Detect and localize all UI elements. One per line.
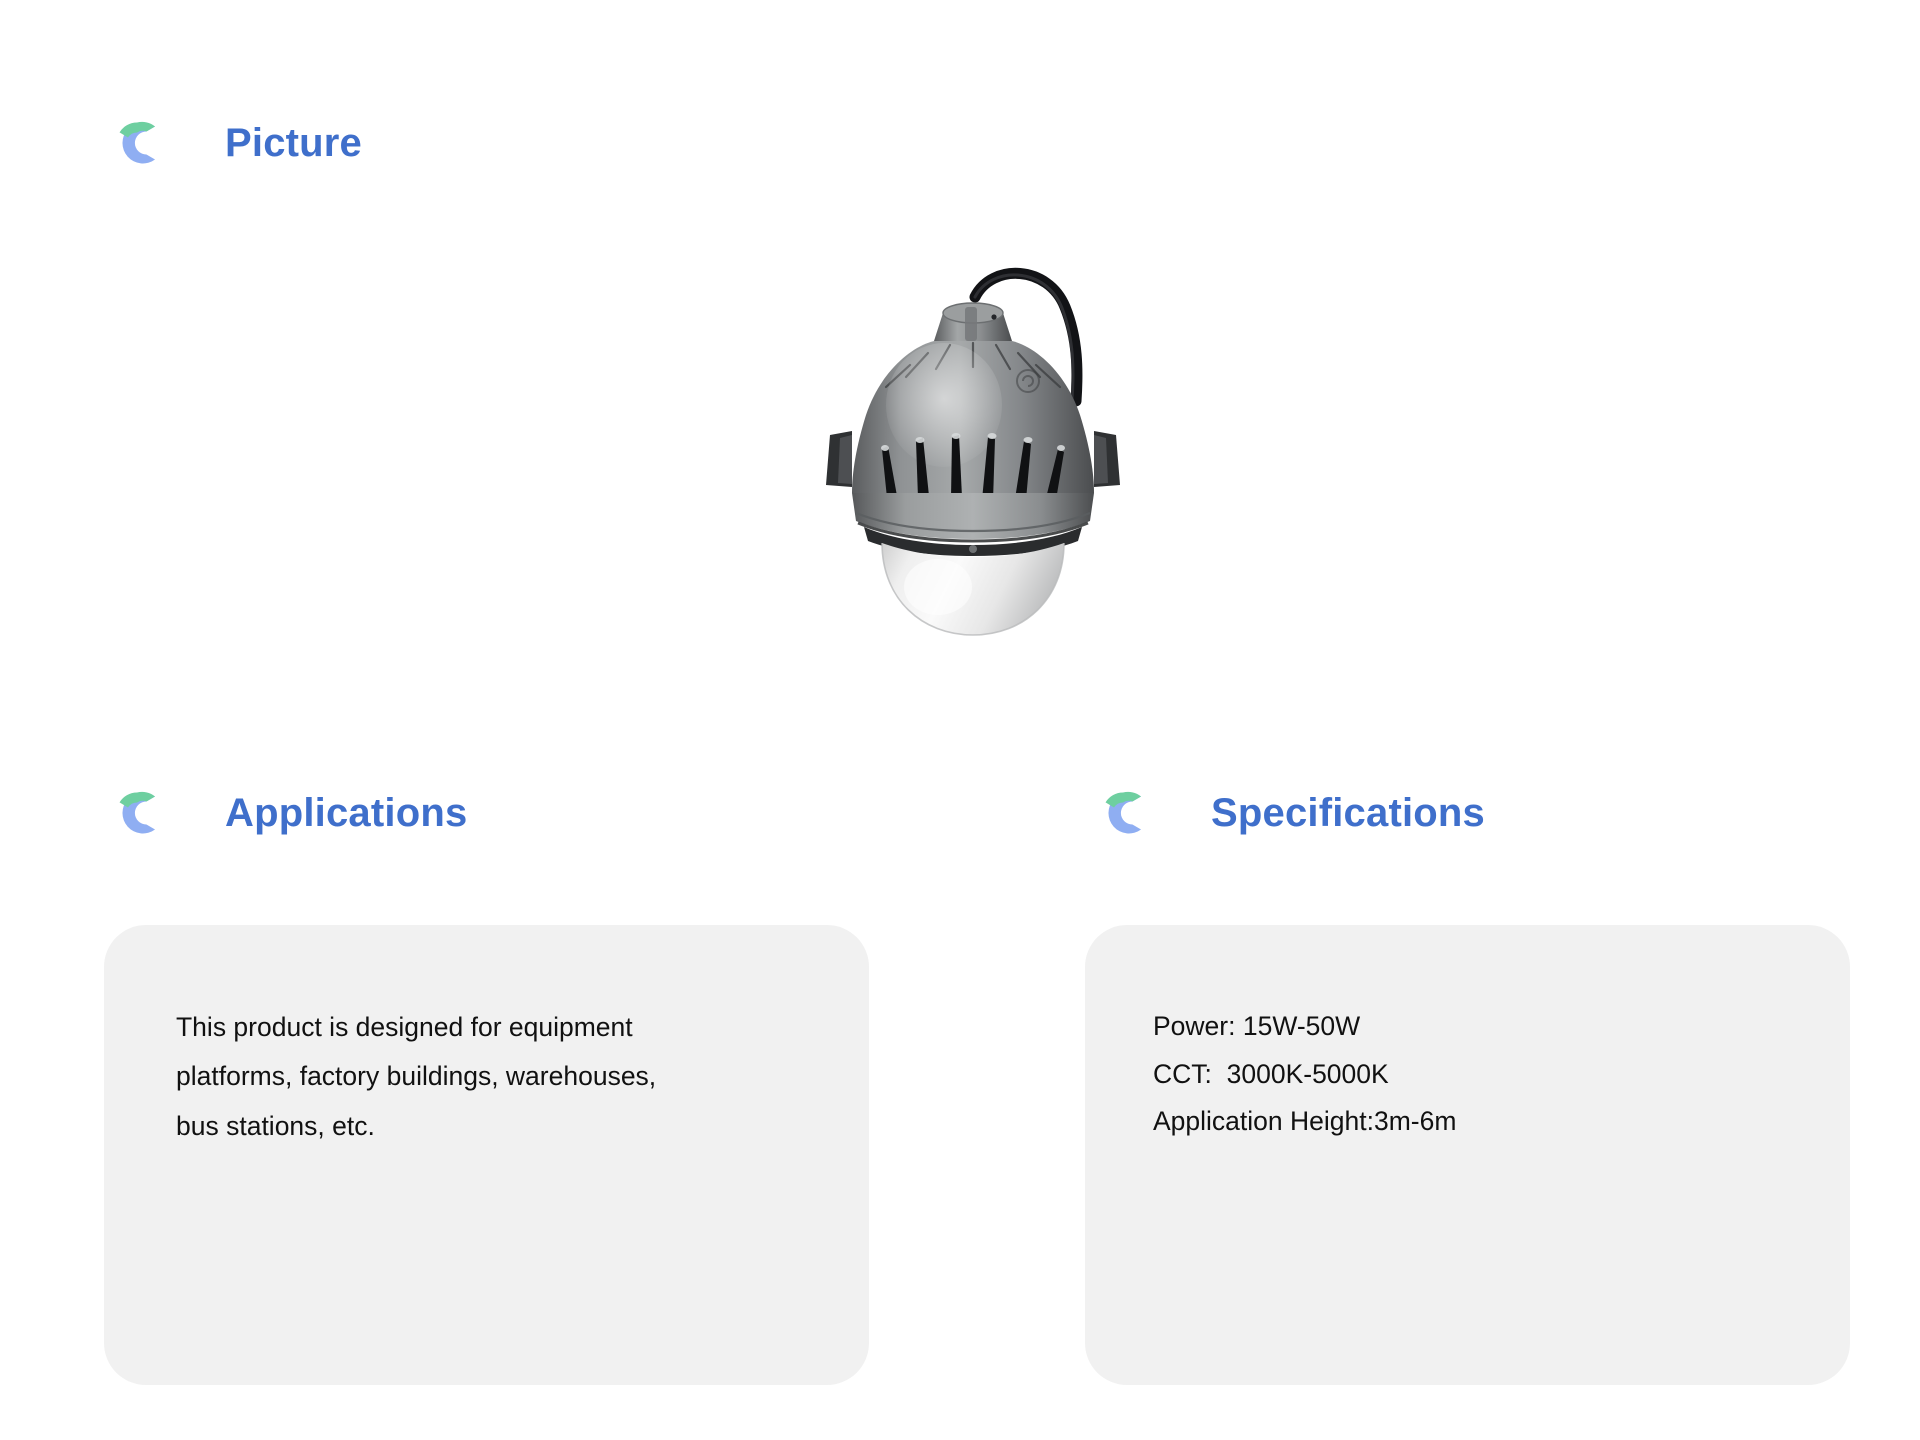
c-ring-logo-icon (104, 110, 170, 176)
section-title-picture: Picture (225, 123, 362, 163)
led-highbay-lamp-photo (760, 235, 1180, 655)
spec-line-height: Application Height:3m-6m (1153, 1098, 1790, 1146)
section-header-applications: Applications (104, 780, 467, 846)
section-header-picture: Picture (104, 110, 362, 176)
section-title-specifications: Specifications (1211, 793, 1485, 833)
spec-line-power: Power: 15W-50W (1153, 1003, 1790, 1051)
section-header-specifications: Specifications (1090, 780, 1485, 846)
c-ring-logo-icon (1090, 780, 1156, 846)
spec-line-cct: CCT: 3000K-5000K (1153, 1051, 1790, 1099)
applications-card: This product is designed for equipment p… (104, 925, 869, 1385)
specifications-card: Power: 15W-50W CCT: 3000K-5000K Applicat… (1085, 925, 1850, 1385)
section-title-applications: Applications (225, 793, 467, 833)
applications-body-text: This product is designed for equipment p… (176, 1003, 809, 1151)
c-ring-logo-icon (104, 780, 170, 846)
